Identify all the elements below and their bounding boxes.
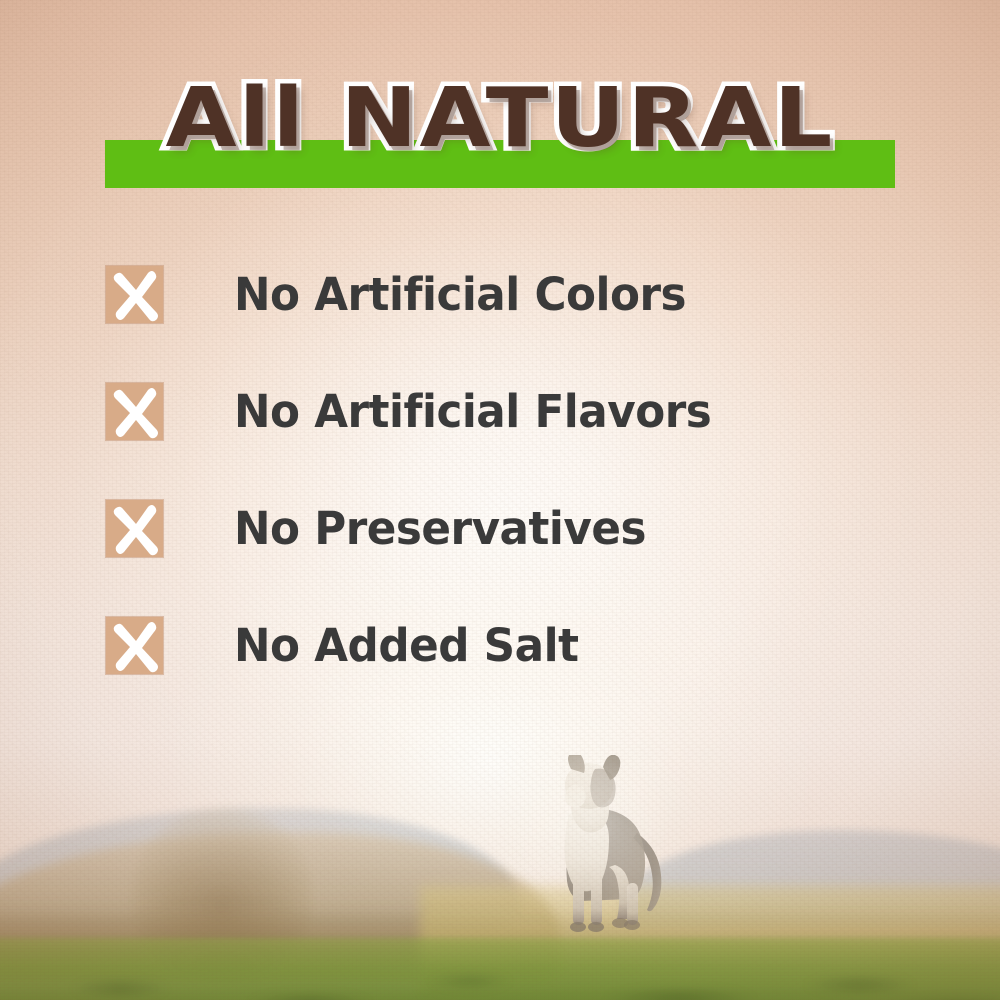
product-infographic-poster: All NATURAL No Artificial Colors No Arti… bbox=[0, 0, 1000, 1000]
list-item: No Artificial Flavors bbox=[106, 383, 926, 440]
list-item: No Preservatives bbox=[106, 500, 926, 557]
list-item: No Artificial Colors bbox=[106, 266, 926, 323]
border-collie-dog-icon bbox=[533, 755, 673, 935]
list-item-label: No Artificial Flavors bbox=[234, 389, 711, 434]
x-mark-icon bbox=[106, 617, 163, 674]
x-mark-icon bbox=[106, 266, 163, 323]
page-title: All NATURAL bbox=[0, 78, 1000, 160]
headline-banner: All NATURAL bbox=[0, 78, 1000, 190]
landscape-photo bbox=[0, 690, 1000, 1000]
grass-texture-overlay bbox=[0, 940, 1000, 1000]
claims-list: No Artificial Colors No Artificial Flavo… bbox=[106, 266, 926, 674]
list-item-label: No Preservatives bbox=[234, 506, 646, 551]
x-mark-icon bbox=[106, 500, 163, 557]
list-item: No Added Salt bbox=[106, 617, 926, 674]
list-item-label: No Artificial Colors bbox=[234, 272, 686, 317]
x-mark-icon bbox=[106, 383, 163, 440]
list-item-label: No Added Salt bbox=[234, 623, 578, 668]
